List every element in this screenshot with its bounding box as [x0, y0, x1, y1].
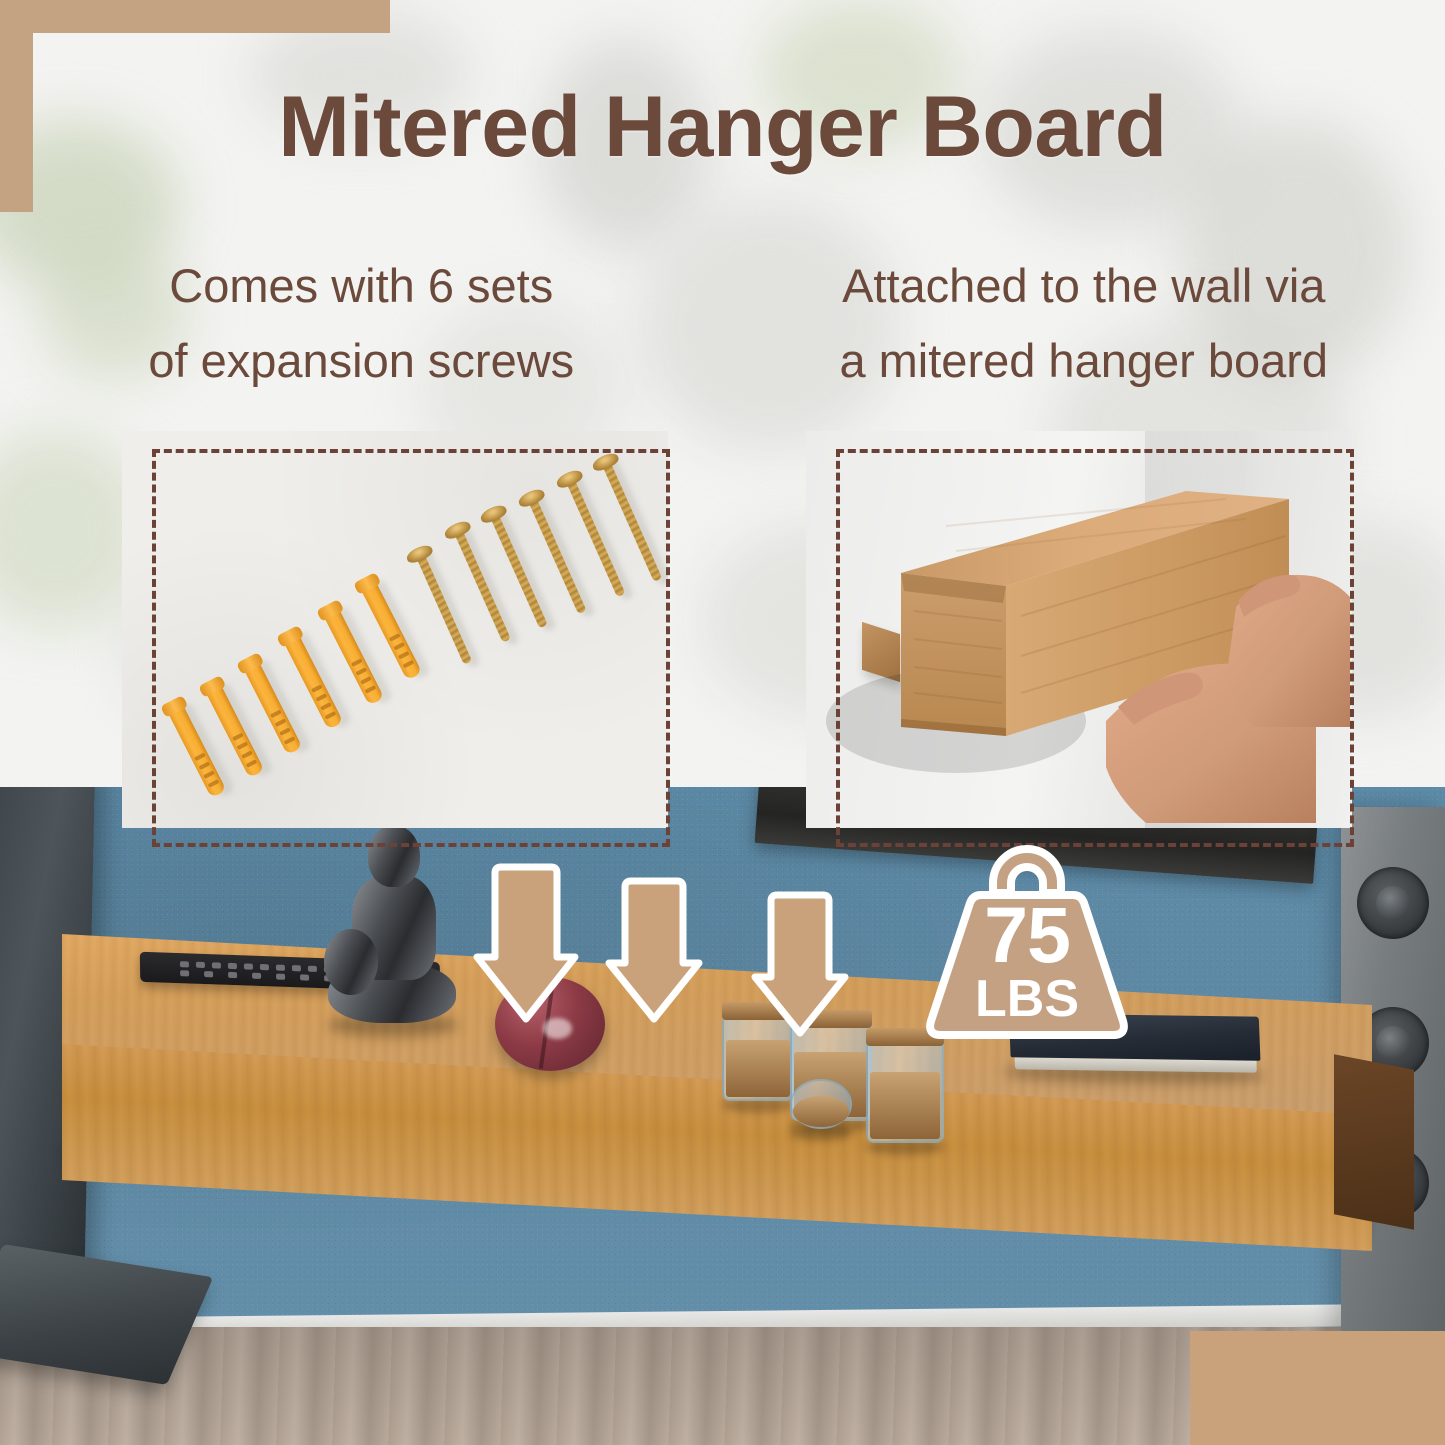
photo-mitered-hanger-board-image — [806, 431, 1352, 828]
load-arrow-2 — [604, 875, 704, 1025]
weight-value: 75 — [901, 895, 1153, 974]
glass-bowl — [790, 1079, 852, 1129]
load-arrow-1 — [471, 861, 581, 1025]
photo-expansion-screws-image — [122, 431, 668, 828]
caption-line-2: a mitered hanger board — [723, 323, 1445, 398]
feature-captions: Comes with 6 sets of expansion screws At… — [0, 248, 1445, 398]
caption-line-1: Attached to the wall via — [723, 248, 1445, 323]
speaker-driver-top — [1357, 867, 1429, 939]
weight-capacity-badge: 75 LBS — [901, 839, 1153, 1057]
caption-mitered-hanger-board: Attached to the wall via a mitered hange… — [723, 248, 1445, 398]
corner-block-bottom-right — [1190, 1331, 1445, 1445]
caption-line-2: of expansion screws — [0, 323, 723, 398]
shelf-end-cap — [1334, 1054, 1414, 1230]
infographic-root: Mitered Hanger Board Comes with 6 sets o… — [0, 0, 1445, 1445]
photo-expansion-screws — [122, 431, 668, 828]
page-title: Mitered Hanger Board — [0, 78, 1445, 177]
weight-unit: LBS — [901, 973, 1153, 1025]
caption-expansion-screws: Comes with 6 sets of expansion screws — [0, 248, 723, 398]
wood-box-shelf — [806, 431, 1352, 828]
caption-line-1: Comes with 6 sets — [0, 248, 723, 323]
photo-mitered-hanger-board — [806, 431, 1352, 828]
load-arrow-3 — [750, 889, 850, 1039]
buddha-figurine — [322, 825, 462, 1035]
hand-upper — [1228, 575, 1350, 727]
